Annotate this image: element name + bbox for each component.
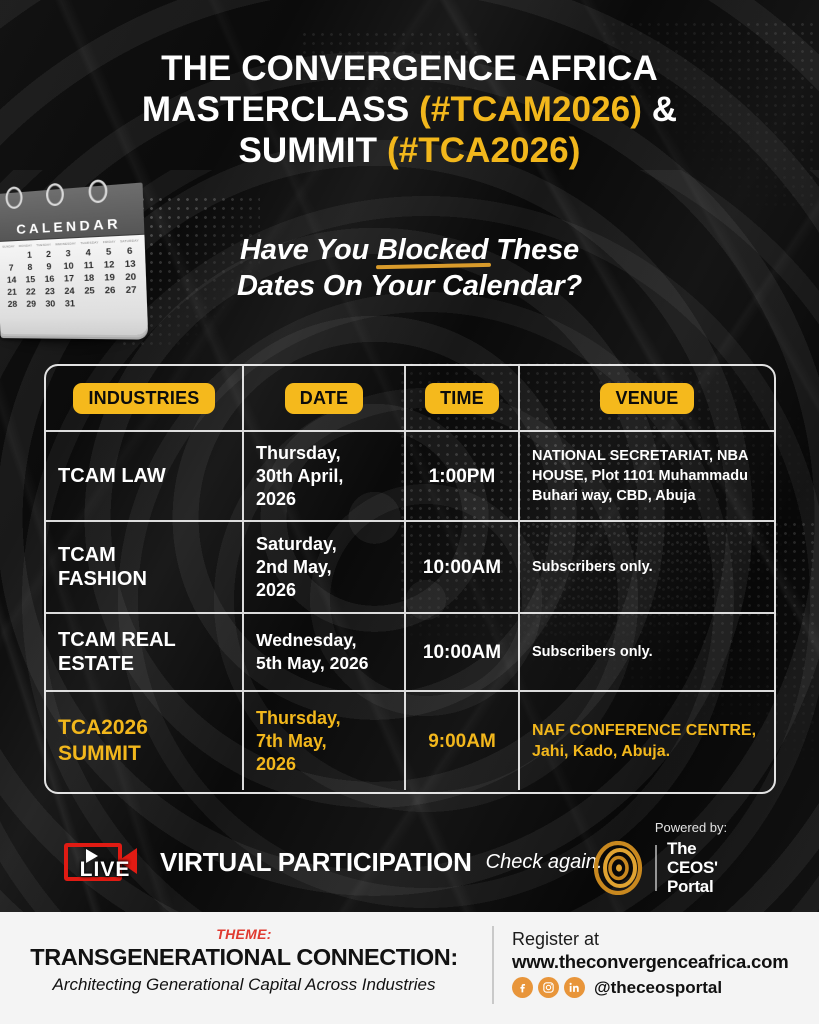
- ceos-portal-spiral-logo-icon: [591, 841, 645, 895]
- calendar-day: 27: [120, 284, 142, 296]
- header-cell-venue: VENUE: [518, 366, 774, 430]
- cell-industry: TCA2026SUMMIT: [46, 692, 242, 790]
- calendar-day: 1: [20, 249, 39, 261]
- ceos-portal-wordmark: The CEOS' Portal: [667, 839, 718, 896]
- instagram-icon[interactable]: [538, 977, 559, 998]
- date-label: Thursday,30th April,2026: [256, 442, 392, 511]
- footer-register-block: Register at www.theconvergenceafrica.com…: [494, 912, 788, 998]
- calendar-day: 24: [59, 285, 79, 297]
- calendar-day-grid: 1234567891011121314151617181920212223242…: [0, 242, 147, 310]
- calendar-day: 21: [3, 287, 22, 298]
- linkedin-icon[interactable]: [564, 977, 585, 998]
- header-cell-industries: INDUSTRIES: [46, 366, 242, 430]
- calendar-weekday: FRIDAY: [103, 239, 116, 244]
- calendar-day: 17: [59, 273, 79, 285]
- date-label: Wednesday,5th May, 2026: [256, 629, 392, 675]
- cell-industry: TCAM LAW: [46, 432, 242, 520]
- footer-theme-block: THEME: TRANSGENERATIONAL CONNECTION: Arc…: [0, 912, 492, 996]
- calendar-day: 9: [39, 261, 59, 273]
- table-header-row: INDUSTRIES DATE TIME VENUE: [46, 366, 774, 430]
- brand-line-2: CEOS': [667, 858, 718, 877]
- cell-date: Wednesday,5th May, 2026: [242, 614, 404, 690]
- venue-label: NAF CONFERENCE CENTRE, Jahi, Kado, Abuja…: [532, 720, 762, 762]
- header-pill-time: TIME: [425, 383, 499, 414]
- calendar-day: 3: [58, 247, 78, 259]
- calendar-day: 23: [40, 286, 60, 298]
- calendar-day: 2: [39, 248, 59, 260]
- register-label: Register at: [512, 928, 788, 950]
- facebook-icon[interactable]: [512, 977, 533, 998]
- header-pill-industries: INDUSTRIES: [73, 383, 214, 414]
- powered-by-block: Powered by: The CEOS' Portal: [591, 820, 791, 896]
- cell-time: 10:00AM: [404, 614, 518, 690]
- cell-industry: TCAM REALESTATE: [46, 614, 242, 690]
- calendar-day: 22: [21, 286, 40, 298]
- schedule-table: INDUSTRIES DATE TIME VENUE TCAM LAW Thur…: [44, 364, 776, 794]
- calendar-weekday: MONDAY: [19, 243, 33, 248]
- calendar-title: CALENDAR: [0, 214, 144, 238]
- industry-label: TCAMFASHION: [58, 543, 230, 591]
- table-row: TCAM REALESTATE Wednesday,5th May, 2026 …: [46, 612, 774, 690]
- calendar-day: 26: [100, 284, 121, 296]
- header-pill-date: DATE: [285, 383, 363, 414]
- calendar-day: 12: [99, 259, 120, 271]
- industry-label: TCAM LAW: [58, 464, 230, 488]
- table-row-highlighted: TCA2026SUMMIT Thursday,7th May,2026 9:00…: [46, 690, 774, 790]
- time-label: 10:00AM: [418, 641, 506, 664]
- cell-date: Saturday,2nd May,2026: [242, 522, 404, 612]
- date-label: Saturday,2nd May,2026: [256, 533, 392, 602]
- calendar-day: [100, 297, 121, 309]
- calendar-day: 25: [79, 285, 100, 297]
- live-camera-icon: LIVE: [64, 839, 142, 885]
- calendar-day: 16: [40, 273, 60, 285]
- title-line-2-white: MASTERCLASS: [142, 90, 419, 129]
- social-handle: @theceosportal: [594, 978, 722, 998]
- calendar-day: [80, 298, 101, 310]
- calendar-day: [121, 297, 143, 309]
- header-cell-time: TIME: [404, 366, 518, 430]
- virtual-participation-label: VIRTUAL PARTICIPATION: [160, 847, 472, 878]
- cell-industry: TCAMFASHION: [46, 522, 242, 612]
- header-pill-venue: VENUE: [600, 383, 693, 414]
- theme-label: THEME:: [14, 926, 474, 942]
- header-cell-date: DATE: [242, 366, 404, 430]
- cell-venue: NATIONAL SECRETARIAT, NBA HOUSE, Plot 11…: [518, 432, 774, 520]
- calendar-sheet: SUNDAY MONDAY TUESDAY WEDNESDAY THURSDAY…: [0, 235, 148, 336]
- cell-date: Thursday,7th May,2026: [242, 692, 404, 790]
- calendar-day: 7: [2, 262, 21, 274]
- title-line-2-tail: &: [642, 90, 677, 129]
- time-label: 9:00AM: [418, 730, 506, 753]
- time-label: 10:00AM: [418, 556, 506, 579]
- page-title: THE CONVERGENCE AFRICA MASTERCLASS (#TCA…: [0, 48, 819, 171]
- check-again-note: Check again.: [486, 851, 603, 874]
- cell-date: Thursday,30th April,2026: [242, 432, 404, 520]
- calendar-day: 30: [41, 298, 61, 310]
- calendar-day: 6: [119, 245, 141, 258]
- calendar-day: 10: [59, 260, 79, 272]
- title-line-1: THE CONVERGENCE AFRICA: [60, 48, 759, 89]
- time-label: 1:00PM: [418, 465, 506, 488]
- calendar-ring: [46, 183, 65, 207]
- venue-label: Subscribers only.: [532, 557, 762, 577]
- calendar-ring: [5, 186, 23, 209]
- venue-label: NATIONAL SECRETARIAT, NBA HOUSE, Plot 11…: [532, 446, 762, 506]
- cell-venue: Subscribers only.: [518, 522, 774, 612]
- title-hashtag-tca: (#TCA2026): [387, 131, 581, 170]
- calendar-day: 19: [99, 271, 120, 283]
- calendar-day: 18: [79, 272, 100, 284]
- title-line-3-white: SUMMIT: [238, 131, 386, 170]
- calendar-day: [1, 250, 20, 262]
- title-line-3: SUMMIT (#TCA2026): [60, 130, 759, 171]
- calendar-day: 20: [120, 271, 142, 283]
- brand-line-3: Portal: [667, 877, 718, 896]
- calendar-ring: [88, 179, 108, 204]
- calendar-body: CALENDAR SUNDAY MONDAY TUESDAY WEDNESDAY…: [0, 182, 151, 335]
- subtitle-text-b: These: [488, 234, 579, 266]
- social-row: @theceosportal: [512, 977, 788, 998]
- register-url[interactable]: www.theconvergenceafrica.com: [512, 950, 788, 974]
- footer-bar: THEME: TRANSGENERATIONAL CONNECTION: Arc…: [0, 912, 819, 1024]
- industry-label: TCA2026SUMMIT: [58, 715, 230, 767]
- table-row: TCAM LAW Thursday,30th April,2026 1:00PM…: [46, 430, 774, 520]
- cell-time: 1:00PM: [404, 432, 518, 520]
- calendar-day: 28: [3, 299, 22, 310]
- powered-by-logo-row: The CEOS' Portal: [591, 839, 791, 896]
- calendar-day: 31: [60, 298, 80, 310]
- subtitle-underlined-word: Blocked: [377, 232, 488, 268]
- calendar-day: 8: [20, 262, 39, 274]
- calendar-day: 13: [119, 258, 141, 271]
- calendar-day: 5: [98, 246, 119, 259]
- calendar-weekday: SUNDAY: [2, 244, 15, 249]
- calendar-day: 14: [2, 274, 21, 286]
- calendar-day: 15: [21, 274, 40, 286]
- calendar-day: 29: [22, 298, 41, 309]
- calendar-icon: CALENDAR SUNDAY MONDAY TUESDAY WEDNESDAY…: [0, 186, 148, 351]
- calendar-day: 4: [78, 247, 99, 259]
- subtitle-text-a: Have You: [240, 234, 377, 266]
- theme-title: TRANSGENERATIONAL CONNECTION:: [14, 943, 474, 971]
- table-row: TCAMFASHION Saturday,2nd May,2026 10:00A…: [46, 520, 774, 612]
- title-hashtag-tcam: (#TCAM2026): [419, 90, 642, 129]
- brand-line-1: The: [667, 839, 718, 858]
- theme-subtitle: Architecting Generational Capital Across…: [14, 974, 474, 996]
- calendar-weekday: SATURDAY: [120, 238, 139, 243]
- calendar-day: 11: [78, 259, 99, 271]
- powered-by-label: Powered by:: [605, 820, 777, 835]
- live-label: LIVE: [68, 858, 142, 882]
- calendar-weekday: TUESDAY: [36, 242, 51, 247]
- cell-venue: NAF CONFERENCE CENTRE, Jahi, Kado, Abuja…: [518, 692, 774, 790]
- poster-canvas: THE CONVERGENCE AFRICA MASTERCLASS (#TCA…: [0, 0, 819, 1024]
- cell-venue: Subscribers only.: [518, 614, 774, 690]
- calendar-weekday: THURSDAY: [80, 240, 98, 245]
- logo-divider: [655, 845, 657, 891]
- industry-label: TCAM REALESTATE: [58, 628, 230, 676]
- venue-label: Subscribers only.: [532, 642, 762, 662]
- title-line-2: MASTERCLASS (#TCAM2026) &: [60, 89, 759, 130]
- cell-time: 9:00AM: [404, 692, 518, 790]
- cell-time: 10:00AM: [404, 522, 518, 612]
- date-label: Thursday,7th May,2026: [256, 707, 392, 776]
